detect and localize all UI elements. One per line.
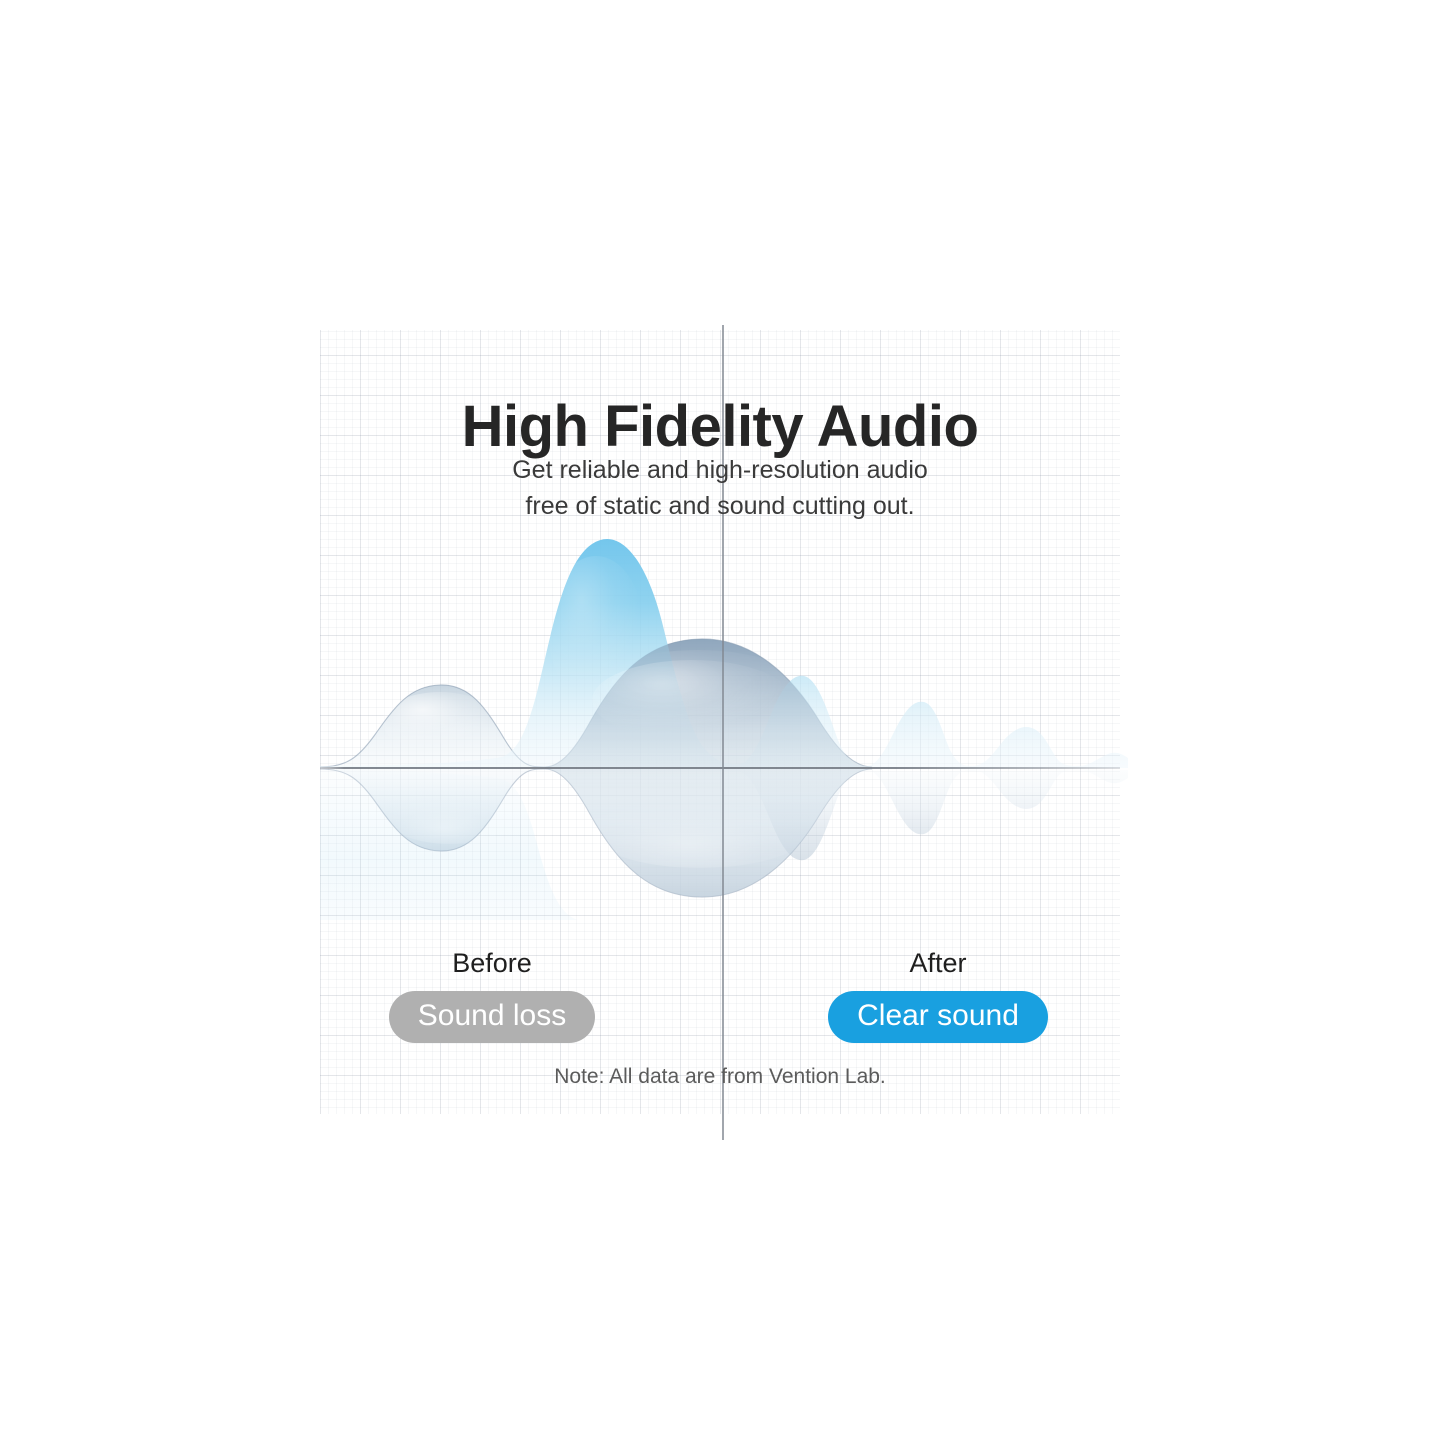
after-label: After xyxy=(778,948,1098,979)
page-title: High Fidelity Audio xyxy=(0,395,1440,460)
subtitle-line-2: free of static and sound cutting out. xyxy=(0,488,1440,524)
footnote: Note: All data are from Vention Lab. xyxy=(0,1065,1440,1089)
status-badge-clear-sound: Clear sound xyxy=(828,991,1048,1043)
comparison-column-before: Before Sound loss xyxy=(332,948,652,1043)
status-badge-sound-loss: Sound loss xyxy=(389,991,595,1043)
waveform-chart xyxy=(300,500,1140,920)
comparison-column-after: After Clear sound xyxy=(778,948,1098,1043)
page-subtitle: Get reliable and high-resolution audio f… xyxy=(0,452,1440,524)
infographic-canvas: High Fidelity Audio Get reliable and hig… xyxy=(0,0,1440,1440)
subtitle-line-1: Get reliable and high-resolution audio xyxy=(0,452,1440,488)
before-label: Before xyxy=(332,948,652,979)
